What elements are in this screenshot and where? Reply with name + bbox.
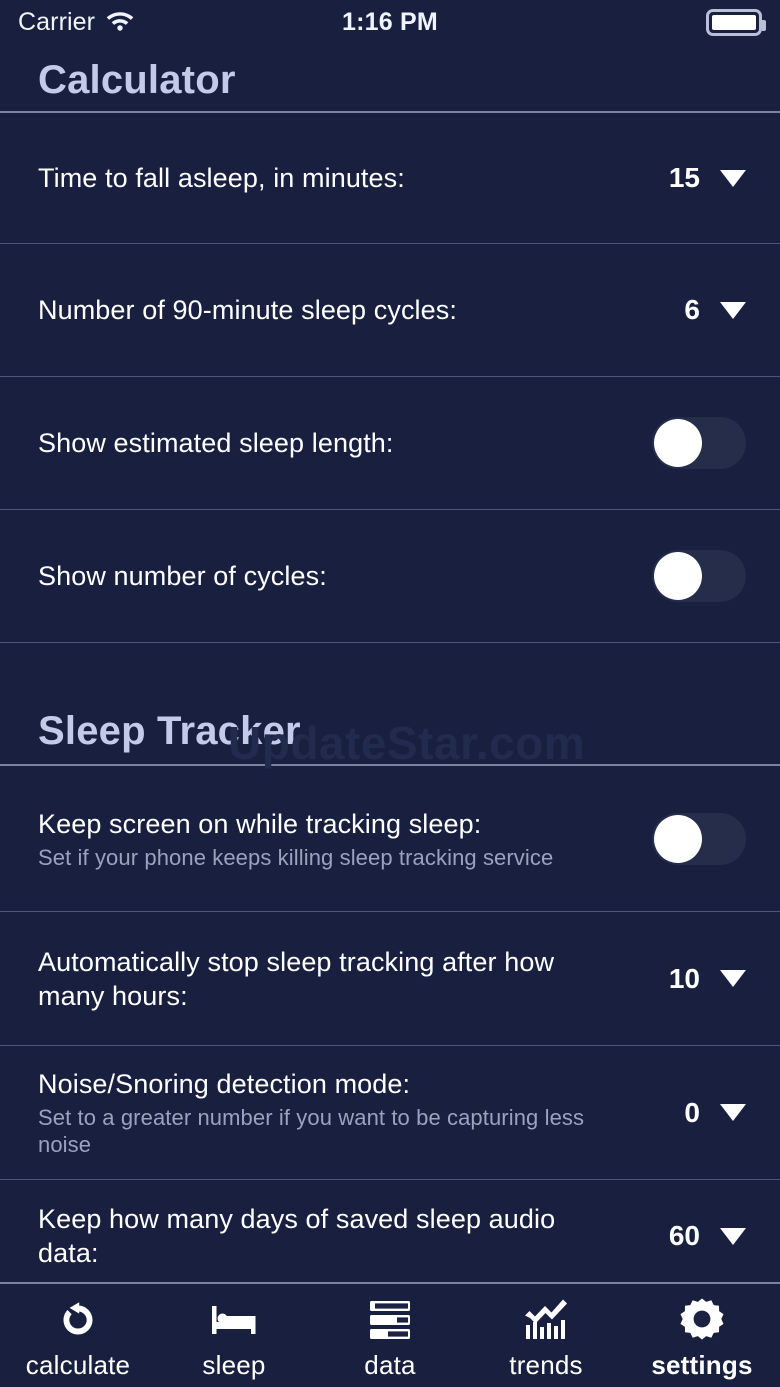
section-title-sleep-tracker: Sleep Tracker: [0, 709, 780, 754]
settings-scroll-area[interactable]: UpdateStar.com Calculator Time to fall a…: [0, 44, 780, 1282]
setting-label: Noise/Snoring detection mode:: [38, 1067, 610, 1101]
row-control: [626, 417, 746, 469]
stepper-value: 15: [658, 162, 700, 194]
row-control: 0: [626, 1097, 746, 1129]
row-control: 6: [626, 294, 746, 326]
stepper-value: 6: [658, 294, 700, 326]
battery-fill: [712, 15, 756, 30]
stepper-keep-audio-days[interactable]: 60: [658, 1220, 746, 1252]
row-control: [626, 813, 746, 865]
tab-data[interactable]: data: [312, 1284, 468, 1387]
section-gap: [0, 643, 780, 709]
setting-row-number-of-cycles-setting[interactable]: Number of 90-minute sleep cycles: 6: [0, 244, 780, 376]
setting-row-keep-audio-days[interactable]: Keep how many days of saved sleep audio …: [0, 1180, 780, 1282]
row-text: Show estimated sleep length:: [38, 426, 626, 460]
tab-calculate[interactable]: calculate: [0, 1284, 156, 1387]
stepper-number-of-cycles[interactable]: 6: [658, 294, 746, 326]
tab-sleep[interactable]: sleep: [156, 1284, 312, 1387]
setting-row-noise-detection-mode[interactable]: Noise/Snoring detection mode: Set to a g…: [0, 1046, 780, 1179]
stepper-auto-stop-hours[interactable]: 10: [658, 963, 746, 995]
gear-icon: [679, 1297, 725, 1343]
tab-label: trends: [509, 1350, 582, 1381]
wifi-icon: [105, 8, 135, 37]
row-control: 15: [626, 162, 746, 194]
setting-label: Time to fall asleep, in minutes:: [38, 161, 610, 195]
toggle-show-number-of-cycles[interactable]: [652, 550, 746, 602]
chevron-down-icon[interactable]: [720, 1104, 746, 1121]
setting-description: Set if your phone keeps killing sleep tr…: [38, 844, 610, 871]
app-screen: Carrier 1:16 PM UpdateStar.com Calculato…: [0, 0, 780, 1387]
stepper-value: 60: [658, 1220, 700, 1252]
stepper-time-to-fall-asleep[interactable]: 15: [658, 162, 746, 194]
setting-row-keep-screen-on[interactable]: Keep screen on while tracking sleep: Set…: [0, 766, 780, 911]
toggle-knob: [654, 552, 702, 600]
status-bar: Carrier 1:16 PM: [0, 0, 780, 44]
chevron-down-icon[interactable]: [720, 170, 746, 187]
setting-row-show-estimated-sleep-length[interactable]: Show estimated sleep length:: [0, 377, 780, 509]
setting-label: Show number of cycles:: [38, 559, 610, 593]
tab-label: sleep: [202, 1350, 265, 1381]
row-text: Time to fall asleep, in minutes:: [38, 161, 626, 195]
row-control: [626, 550, 746, 602]
toggle-show-estimated-sleep-length[interactable]: [652, 417, 746, 469]
carrier-label: Carrier: [18, 8, 95, 37]
setting-label: Number of 90-minute sleep cycles:: [38, 293, 610, 327]
toggle-knob: [654, 815, 702, 863]
row-text: Keep screen on while tracking sleep: Set…: [38, 807, 626, 871]
tab-label: calculate: [26, 1350, 130, 1381]
stepper-noise-detection-mode[interactable]: 0: [658, 1097, 746, 1129]
chart-line-up-icon: [522, 1297, 570, 1343]
setting-row-time-to-fall-asleep[interactable]: Time to fall asleep, in minutes: 15: [0, 113, 780, 243]
setting-label: Keep screen on while tracking sleep:: [38, 807, 610, 841]
chevron-down-icon[interactable]: [720, 302, 746, 319]
bed-icon: [209, 1297, 259, 1343]
tab-label: data: [364, 1350, 415, 1381]
setting-row-auto-stop-hours[interactable]: Automatically stop sleep tracking after …: [0, 912, 780, 1045]
setting-description: Set to a greater number if you want to b…: [38, 1104, 610, 1158]
row-control: 10: [626, 963, 746, 995]
row-text: Keep how many days of saved sleep audio …: [38, 1202, 626, 1270]
setting-row-show-number-of-cycles[interactable]: Show number of cycles:: [0, 510, 780, 642]
bottom-tab-bar: calculate sleep: [0, 1282, 780, 1387]
chevron-down-icon[interactable]: [720, 970, 746, 987]
stepper-value: 0: [658, 1097, 700, 1129]
setting-label: Show estimated sleep length:: [38, 426, 610, 460]
tab-label: settings: [651, 1350, 752, 1381]
row-text: Automatically stop sleep tracking after …: [38, 945, 626, 1013]
setting-label: Keep how many days of saved sleep audio …: [38, 1202, 610, 1270]
stepper-value: 10: [658, 963, 700, 995]
row-text: Show number of cycles:: [38, 559, 626, 593]
section-title-calculator: Calculator: [0, 44, 780, 111]
chevron-down-icon[interactable]: [720, 1228, 746, 1245]
server-rows-icon: [368, 1297, 412, 1343]
tab-settings[interactable]: settings: [624, 1284, 780, 1387]
setting-label: Automatically stop sleep tracking after …: [38, 945, 610, 1013]
battery-full-icon: [706, 9, 762, 36]
status-bar-left: Carrier: [18, 8, 135, 37]
toggle-keep-screen-on[interactable]: [652, 813, 746, 865]
toggle-knob: [654, 419, 702, 467]
row-text: Number of 90-minute sleep cycles:: [38, 293, 626, 327]
status-bar-right: [706, 9, 762, 36]
row-control: 60: [626, 1220, 746, 1252]
tab-trends[interactable]: trends: [468, 1284, 624, 1387]
rotate-left-icon: [56, 1297, 100, 1343]
row-text: Noise/Snoring detection mode: Set to a g…: [38, 1067, 626, 1158]
